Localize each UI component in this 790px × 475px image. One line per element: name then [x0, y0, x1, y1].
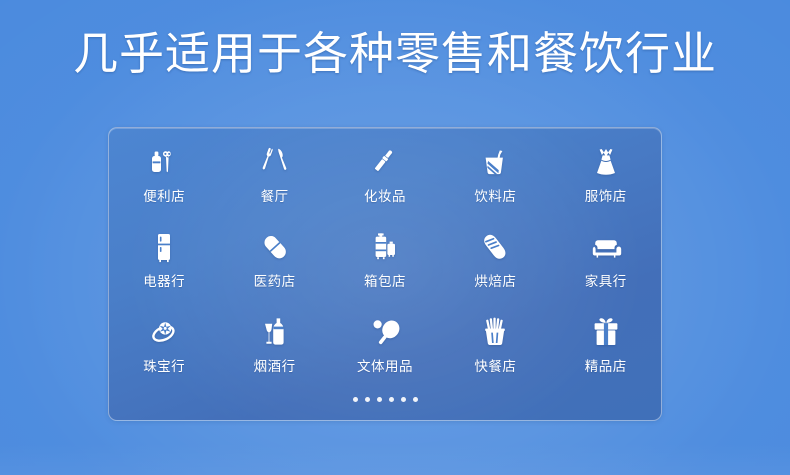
diamond-ring-icon [138, 310, 190, 354]
industry-item-cosmetics[interactable]: 化妆品 [330, 140, 440, 225]
industry-item-luggage-store[interactable]: 箱包店 [330, 225, 440, 310]
dress-icon [580, 140, 632, 184]
pager-dot[interactable] [401, 397, 406, 402]
industry-item-label: 箱包店 [364, 273, 406, 291]
industry-item-label: 饮料店 [474, 188, 516, 206]
industry-item-label: 烟酒行 [254, 358, 296, 376]
wine-bottle-glass-icon [249, 310, 301, 354]
industry-item-label: 文体用品 [357, 358, 413, 376]
industry-item-label: 电器行 [143, 273, 185, 291]
industry-item-label: 化妆品 [364, 188, 406, 206]
industry-item-jewelry-store[interactable]: 珠宝行 [109, 310, 219, 395]
pager-dot[interactable] [389, 397, 394, 402]
industry-item-convenience-store[interactable]: 便利店 [109, 140, 219, 225]
industry-item-label: 快餐店 [474, 358, 516, 376]
industry-item-label: 烘焙店 [474, 273, 516, 291]
drink-cup-icon [469, 140, 521, 184]
french-fries-icon [469, 310, 521, 354]
background-bottom-highlight [0, 443, 790, 475]
industry-item-restaurant[interactable]: 餐厅 [219, 140, 329, 225]
lipstick-icon [359, 140, 411, 184]
refrigerator-icon [138, 225, 190, 269]
luggage-icon [359, 225, 411, 269]
industry-item-clothing-store[interactable]: 服饰店 [551, 140, 661, 225]
capsule-pill-icon [249, 225, 301, 269]
industry-item-label: 家具行 [585, 273, 627, 291]
industry-item-label: 餐厅 [261, 188, 289, 206]
industry-item-bakery[interactable]: 烘焙店 [440, 225, 550, 310]
pager-dot[interactable] [353, 397, 358, 402]
pager-dot[interactable] [377, 397, 382, 402]
industry-item-fast-food[interactable]: 快餐店 [440, 310, 550, 395]
bottle-scissors-icon [138, 140, 190, 184]
industry-item-stationery-sports[interactable]: 文体用品 [330, 310, 440, 395]
industry-item-label: 精品店 [585, 358, 627, 376]
pingpong-paddle-icon [359, 310, 411, 354]
industry-item-label: 便利店 [143, 188, 185, 206]
industry-item-boutique[interactable]: 精品店 [551, 310, 661, 395]
industry-panel: 便利店 餐厅 [108, 127, 662, 421]
industry-grid: 便利店 餐厅 [109, 140, 661, 395]
fork-knife-icon [249, 140, 301, 184]
industry-item-tobacco-liquor-store[interactable]: 烟酒行 [219, 310, 329, 395]
industry-item-label: 珠宝行 [143, 358, 185, 376]
pager-dots[interactable] [109, 397, 661, 402]
industry-item-label: 服饰店 [585, 188, 627, 206]
industry-item-furniture-store[interactable]: 家具行 [551, 225, 661, 310]
industry-item-appliance-store[interactable]: 电器行 [109, 225, 219, 310]
page-title: 几乎适用于各种零售和餐饮行业 [0, 26, 790, 82]
baguette-bread-icon [469, 225, 521, 269]
gift-box-icon [580, 310, 632, 354]
sofa-icon [580, 225, 632, 269]
industry-item-label: 医药店 [254, 273, 296, 291]
industry-item-pharmacy[interactable]: 医药店 [219, 225, 329, 310]
pager-dot[interactable] [413, 397, 418, 402]
industry-item-beverage-store[interactable]: 饮料店 [440, 140, 550, 225]
pager-dot[interactable] [365, 397, 370, 402]
